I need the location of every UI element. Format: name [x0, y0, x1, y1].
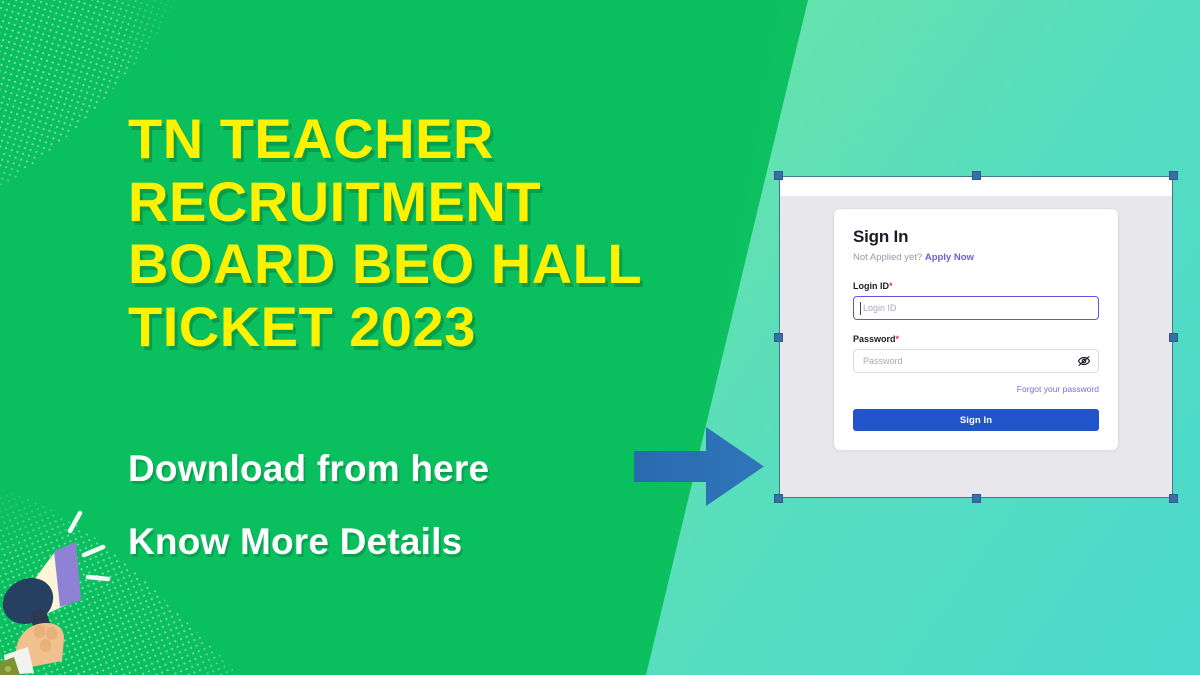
password-label: Password*	[853, 334, 1099, 344]
page-title: TN Teacher Recruitment Board BEO Hall Ti…	[128, 108, 728, 359]
resize-handle-bottom-left[interactable]	[774, 494, 783, 503]
login-id-label-text: Login ID	[853, 281, 889, 291]
login-id-label: Login ID*	[853, 281, 1099, 291]
resize-handle-bottom-center[interactable]	[972, 494, 981, 503]
resize-handle-top-left[interactable]	[774, 171, 783, 180]
right-arrow-icon	[634, 424, 764, 509]
signin-card: Sign In Not Applied yet? Apply Now Login…	[833, 208, 1119, 451]
resize-handle-middle-left[interactable]	[774, 333, 783, 342]
banner-canvas: TN Teacher Recruitment Board BEO Hall Ti…	[0, 0, 1200, 675]
forgot-password-link[interactable]: Forgot your password	[1017, 384, 1099, 394]
apply-now-link[interactable]: Apply Now	[925, 252, 974, 263]
password-input[interactable]: Password	[863, 356, 903, 366]
signin-heading: Sign In	[853, 227, 1099, 247]
password-field-wrap[interactable]: Password	[853, 349, 1099, 373]
resize-handle-middle-right[interactable]	[1169, 333, 1178, 342]
text-caret	[860, 302, 861, 315]
login-id-required-mark: *	[889, 281, 893, 291]
signin-submit-button[interactable]: Sign In	[853, 409, 1099, 431]
cta-details-text: Know More Details	[128, 523, 748, 562]
megaphone-icon	[0, 503, 124, 675]
resize-handle-top-right[interactable]	[1169, 171, 1178, 180]
not-applied-text: Not Applied yet?	[853, 252, 922, 263]
login-id-input[interactable]: Login ID	[863, 303, 897, 313]
screenshot-frame: Sign In Not Applied yet? Apply Now Login…	[779, 176, 1173, 498]
login-page-body: Sign In Not Applied yet? Apply Now Login…	[780, 196, 1172, 497]
signin-subtext: Not Applied yet? Apply Now	[853, 252, 1099, 263]
password-label-text: Password	[853, 334, 896, 344]
forgot-password-row: Forgot your password	[853, 379, 1099, 397]
resize-handle-top-center[interactable]	[972, 171, 981, 180]
eye-off-icon[interactable]	[1077, 354, 1091, 368]
password-required-mark: *	[896, 334, 900, 344]
selected-screenshot-object[interactable]: Sign In Not Applied yet? Apply Now Login…	[779, 176, 1173, 498]
resize-handle-bottom-right[interactable]	[1169, 494, 1178, 503]
login-id-field-wrap[interactable]: Login ID	[853, 296, 1099, 320]
